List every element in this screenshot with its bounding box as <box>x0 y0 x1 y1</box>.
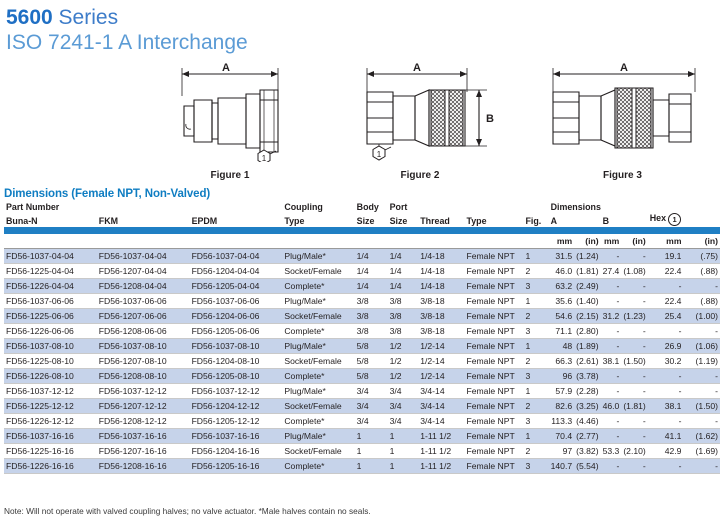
cell-hex-mm: - <box>648 384 684 399</box>
cell-dim-b-in: - <box>621 294 647 309</box>
unit-a-mm: mm <box>549 234 575 249</box>
cell-body-size: 1/4 <box>355 279 388 294</box>
cell-port-size: 1/2 <box>388 354 419 369</box>
cell-dim-b-mm: - <box>601 429 622 444</box>
cell-coupling-type: Socket/Female <box>282 444 354 459</box>
cell-thread: 3/4-14 <box>418 414 464 429</box>
cell-fkm-part: FD56-1037-04-04 <box>97 249 190 264</box>
cell-port-size: 3/4 <box>388 399 419 414</box>
cell-dim-a-mm: 35.6 <box>549 294 575 309</box>
cell-figure-ref: 1 <box>523 384 548 399</box>
figures-row: 1 A Figure 1 <box>0 62 720 182</box>
table-row: FD56-1226-06-06FD56-1208-06-06FD56-1205-… <box>4 324 720 339</box>
cell-fkm-part: FD56-1207-12-12 <box>97 399 190 414</box>
cell-buna-n-part: FD56-1225-08-10 <box>4 354 97 369</box>
cell-coupling-type: Complete* <box>282 369 354 384</box>
cell-figure-ref: 3 <box>523 324 548 339</box>
cell-hex-in: - <box>683 279 720 294</box>
cell-dim-b-in: - <box>621 369 647 384</box>
figure-3-dim-a: A <box>620 62 628 74</box>
table-row: FD56-1226-08-10FD56-1208-08-10FD56-1205-… <box>4 369 720 384</box>
cell-coupling-type: Socket/Female <box>282 264 354 279</box>
cell-dim-b-in: - <box>621 429 647 444</box>
cell-seal-type: Female NPT <box>464 279 523 294</box>
cell-thread: 3/8-18 <box>418 324 464 339</box>
unit-b-mm: mm <box>601 234 622 249</box>
cell-epdm-part: FD56-1204-08-10 <box>190 354 283 369</box>
header-port-size: Size <box>388 213 419 227</box>
cell-coupling-type: Plug/Male* <box>282 384 354 399</box>
cell-dim-a-in: (1.81) <box>574 264 600 279</box>
cell-coupling-type: Complete* <box>282 459 354 474</box>
cell-coupling-type: Plug/Male* <box>282 294 354 309</box>
cell-buna-n-part: FD56-1226-12-12 <box>4 414 97 429</box>
cell-coupling-type: Plug/Male* <box>282 339 354 354</box>
cell-port-size: 1 <box>388 459 419 474</box>
cell-dim-b-mm: - <box>601 369 622 384</box>
cell-hex-mm: 22.4 <box>648 264 684 279</box>
cell-dim-a-in: (1.89) <box>574 339 600 354</box>
cell-seal-type: Female NPT <box>464 339 523 354</box>
cell-dim-b-mm: 53.3 <box>601 444 622 459</box>
cell-buna-n-part: FD56-1037-08-10 <box>4 339 97 354</box>
cell-thread: 1/2-14 <box>418 339 464 354</box>
cell-dim-b-in: (2.10) <box>621 444 647 459</box>
unit-spacer-3 <box>190 234 283 249</box>
cell-port-size: 1/4 <box>388 279 419 294</box>
unit-spacer-2 <box>97 234 190 249</box>
cell-hex-mm: 25.4 <box>648 309 684 324</box>
figure-2-dim-a: A <box>413 62 421 74</box>
dimensions-table: Part Number Coupling Body Port Dimension… <box>4 202 720 474</box>
cell-fkm-part: FD56-1037-06-06 <box>97 294 190 309</box>
cell-dim-a-in: (1.40) <box>574 294 600 309</box>
cell-thread: 1/4-18 <box>418 279 464 294</box>
cell-hex-in: (.75) <box>683 249 720 264</box>
cell-epdm-part: FD56-1037-08-10 <box>190 339 283 354</box>
figure-1-drawing: 1 A <box>160 62 300 162</box>
cell-dim-a-mm: 140.7 <box>549 459 575 474</box>
cell-dim-a-mm: 46.0 <box>549 264 575 279</box>
cell-port-size: 1/2 <box>388 369 419 384</box>
cell-dim-b-mm: - <box>601 279 622 294</box>
cell-thread: 1-11 1/2 <box>418 444 464 459</box>
header-buna: Buna-N <box>4 213 97 227</box>
cell-thread: 1-11 1/2 <box>418 459 464 474</box>
cell-hex-in: (1.06) <box>683 339 720 354</box>
header-dim-hex: Hex1 <box>648 213 720 227</box>
cell-hex-in: (1.69) <box>683 444 720 459</box>
cell-dim-a-in: (4.46) <box>574 414 600 429</box>
cell-body-size: 3/4 <box>355 399 388 414</box>
cell-dim-b-mm: 46.0 <box>601 399 622 414</box>
cell-hex-mm: - <box>648 414 684 429</box>
cell-body-size: 3/4 <box>355 384 388 399</box>
figure-1-dim-a: A <box>222 62 230 74</box>
cell-figure-ref: 3 <box>523 414 548 429</box>
series-word: Series <box>53 6 118 29</box>
header-epdm: EPDM <box>190 213 283 227</box>
cell-buna-n-part: FD56-1226-04-04 <box>4 279 97 294</box>
figure-1-caption: Figure 1 <box>160 170 300 181</box>
header-spacer-fig <box>523 202 548 213</box>
cell-dim-a-in: (2.49) <box>574 279 600 294</box>
header-port: Port <box>388 202 419 213</box>
header-spacer-hex2 <box>683 202 720 213</box>
unit-hex-mm: mm <box>648 234 684 249</box>
header-body-size: Size <box>355 213 388 227</box>
cell-dim-a-in: (5.54) <box>574 459 600 474</box>
header-spacer-type <box>464 202 523 213</box>
cell-dim-b-mm: - <box>601 414 622 429</box>
cell-coupling-type: Complete* <box>282 324 354 339</box>
cell-hex-in: - <box>683 369 720 384</box>
header-rule <box>4 227 720 234</box>
cell-dim-a-mm: 71.1 <box>549 324 575 339</box>
callout-hex-1: 1 <box>373 146 391 160</box>
cell-coupling-type: Socket/Female <box>282 399 354 414</box>
header-thread: Thread <box>418 213 464 227</box>
cell-dim-a-in: (2.15) <box>574 309 600 324</box>
cell-seal-type: Female NPT <box>464 414 523 429</box>
unit-spacer-5 <box>355 234 388 249</box>
header-dim-a: A <box>549 213 601 227</box>
unit-spacer-7 <box>418 234 464 249</box>
header-coupling: Coupling <box>282 202 354 213</box>
cell-dim-a-in: (3.78) <box>574 369 600 384</box>
cell-seal-type: Female NPT <box>464 294 523 309</box>
cell-dim-a-mm: 113.3 <box>549 414 575 429</box>
table-row: FD56-1226-04-04FD56-1208-04-04FD56-1205-… <box>4 279 720 294</box>
unit-spacer-4 <box>282 234 354 249</box>
header-dimensions: Dimensions <box>549 202 648 213</box>
cell-figure-ref: 2 <box>523 399 548 414</box>
cell-hex-in: - <box>683 414 720 429</box>
cell-port-size: 1/4 <box>388 264 419 279</box>
figure-1: 1 A Figure 1 <box>160 62 300 181</box>
figure-3-drawing: A <box>535 62 710 162</box>
cell-seal-type: Female NPT <box>464 309 523 324</box>
cell-body-size: 5/8 <box>355 339 388 354</box>
cell-dim-b-mm: - <box>601 249 622 264</box>
cell-figure-ref: 3 <box>523 279 548 294</box>
cell-figure-ref: 1 <box>523 294 548 309</box>
table-row: FD56-1225-04-04FD56-1207-04-04FD56-1204-… <box>4 264 720 279</box>
cell-epdm-part: FD56-1205-12-12 <box>190 414 283 429</box>
cell-seal-type: Female NPT <box>464 444 523 459</box>
cell-dim-a-in: (2.80) <box>574 324 600 339</box>
cell-dim-b-in: - <box>621 324 647 339</box>
cell-dim-b-in: - <box>621 414 647 429</box>
cell-buna-n-part: FD56-1037-04-04 <box>4 249 97 264</box>
footnote-marker-1: 1 <box>668 213 681 226</box>
cell-port-size: 1 <box>388 444 419 459</box>
cell-figure-ref: 3 <box>523 459 548 474</box>
cell-body-size: 5/8 <box>355 369 388 384</box>
cell-dim-b-mm: - <box>601 459 622 474</box>
cell-coupling-type: Plug/Male* <box>282 249 354 264</box>
cell-dim-b-in: - <box>621 249 647 264</box>
header-body: Body <box>355 202 388 213</box>
cell-seal-type: Female NPT <box>464 399 523 414</box>
cell-buna-n-part: FD56-1225-06-06 <box>4 309 97 324</box>
table-row: FD56-1037-12-12FD56-1037-12-12FD56-1037-… <box>4 384 720 399</box>
page-subtitle: ISO 7241-1 A Interchange <box>6 30 720 56</box>
page-title-block: 5600 Series ISO 7241-1 A Interchange <box>0 0 720 56</box>
cell-fkm-part: FD56-1207-08-10 <box>97 354 190 369</box>
table-row: FD56-1037-06-06FD56-1037-06-06FD56-1037-… <box>4 294 720 309</box>
cell-epdm-part: FD56-1037-12-12 <box>190 384 283 399</box>
cell-port-size: 3/4 <box>388 384 419 399</box>
cell-buna-n-part: FD56-1226-08-10 <box>4 369 97 384</box>
cell-thread: 1/2-14 <box>418 369 464 384</box>
cell-epdm-part: FD56-1204-06-06 <box>190 309 283 324</box>
cell-dim-a-mm: 63.2 <box>549 279 575 294</box>
series-number: 5600 <box>6 6 53 29</box>
cell-dim-a-in: (2.61) <box>574 354 600 369</box>
cell-thread: 1/4-18 <box>418 249 464 264</box>
cell-figure-ref: 2 <box>523 354 548 369</box>
cell-hex-mm: 22.4 <box>648 294 684 309</box>
cell-buna-n-part: FD56-1225-12-12 <box>4 399 97 414</box>
cell-seal-type: Female NPT <box>464 369 523 384</box>
cell-figure-ref: 2 <box>523 309 548 324</box>
cell-epdm-part: FD56-1205-04-04 <box>190 279 283 294</box>
cell-hex-in: (.88) <box>683 264 720 279</box>
cell-epdm-part: FD56-1205-06-06 <box>190 324 283 339</box>
cell-dim-b-in: - <box>621 459 647 474</box>
cell-port-size: 3/8 <box>388 324 419 339</box>
cell-hex-in: - <box>683 384 720 399</box>
cell-epdm-part: FD56-1204-04-04 <box>190 264 283 279</box>
cell-dim-a-in: (3.25) <box>574 399 600 414</box>
header-fig: Fig. <box>523 213 548 227</box>
figure-3: A Figure 3 <box>535 62 710 181</box>
cell-seal-type: Female NPT <box>464 459 523 474</box>
cell-thread: 3/4-14 <box>418 384 464 399</box>
cell-dim-b-in: - <box>621 384 647 399</box>
cell-body-size: 5/8 <box>355 354 388 369</box>
cell-body-size: 1 <box>355 429 388 444</box>
cell-port-size: 1 <box>388 429 419 444</box>
cell-epdm-part: FD56-1205-16-16 <box>190 459 283 474</box>
cell-port-size: 3/4 <box>388 414 419 429</box>
cell-fkm-part: FD56-1208-12-12 <box>97 414 190 429</box>
cell-hex-mm: 19.1 <box>648 249 684 264</box>
table-row: FD56-1225-06-06FD56-1207-06-06FD56-1204-… <box>4 309 720 324</box>
cell-figure-ref: 2 <box>523 444 548 459</box>
unit-b-in: (in) <box>621 234 647 249</box>
cell-hex-mm: 38.1 <box>648 399 684 414</box>
cell-dim-b-mm: 31.2 <box>601 309 622 324</box>
cell-port-size: 3/8 <box>388 309 419 324</box>
cell-hex-in: - <box>683 459 720 474</box>
unit-a-in: (in) <box>574 234 600 249</box>
cell-epdm-part: FD56-1204-12-12 <box>190 399 283 414</box>
cell-body-size: 3/8 <box>355 294 388 309</box>
cell-hex-in: (1.50) <box>683 399 720 414</box>
table-row: FD56-1225-12-12FD56-1207-12-12FD56-1204-… <box>4 399 720 414</box>
header-part-number: Part Number <box>4 202 97 213</box>
cell-fkm-part: FD56-1207-04-04 <box>97 264 190 279</box>
cell-dim-a-mm: 31.5 <box>549 249 575 264</box>
cell-dim-a-mm: 70.4 <box>549 429 575 444</box>
cell-dim-a-in: (1.24) <box>574 249 600 264</box>
cell-fkm-part: FD56-1207-16-16 <box>97 444 190 459</box>
cell-hex-mm: - <box>648 369 684 384</box>
cell-hex-mm: 42.9 <box>648 444 684 459</box>
cell-dim-a-in: (3.82) <box>574 444 600 459</box>
cell-epdm-part: FD56-1037-04-04 <box>190 249 283 264</box>
cell-hex-in: (1.00) <box>683 309 720 324</box>
cell-hex-in: (.88) <box>683 294 720 309</box>
table-row: FD56-1037-16-16FD56-1037-16-16FD56-1037-… <box>4 429 720 444</box>
cell-coupling-type: Complete* <box>282 414 354 429</box>
cell-body-size: 3/8 <box>355 324 388 339</box>
table-row: FD56-1226-16-16FD56-1208-16-16FD56-1205-… <box>4 459 720 474</box>
cell-dim-a-mm: 66.3 <box>549 354 575 369</box>
cell-body-size: 3/8 <box>355 309 388 324</box>
figure-2-drawing: 1 A B <box>345 62 495 162</box>
cell-dim-b-in: (1.23) <box>621 309 647 324</box>
cell-body-size: 1/4 <box>355 249 388 264</box>
cell-dim-a-mm: 96 <box>549 369 575 384</box>
cell-epdm-part: FD56-1205-08-10 <box>190 369 283 384</box>
cell-fkm-part: FD56-1208-04-04 <box>97 279 190 294</box>
cell-hex-mm: - <box>648 324 684 339</box>
table-group-header-row: Part Number Coupling Body Port Dimension… <box>4 202 720 213</box>
header-hex-label: Hex <box>650 213 666 223</box>
cell-fkm-part: FD56-1208-16-16 <box>97 459 190 474</box>
cell-thread: 3/8-18 <box>418 294 464 309</box>
cell-dim-b-in: (1.50) <box>621 354 647 369</box>
cell-seal-type: Female NPT <box>464 384 523 399</box>
cell-buna-n-part: FD56-1226-16-16 <box>4 459 97 474</box>
cell-epdm-part: FD56-1037-06-06 <box>190 294 283 309</box>
cell-epdm-part: FD56-1204-16-16 <box>190 444 283 459</box>
cell-buna-n-part: FD56-1226-06-06 <box>4 324 97 339</box>
cell-coupling-type: Socket/Female <box>282 354 354 369</box>
cell-fkm-part: FD56-1037-08-10 <box>97 339 190 354</box>
cell-figure-ref: 3 <box>523 369 548 384</box>
table-row: FD56-1037-04-04FD56-1037-04-04FD56-1037-… <box>4 249 720 264</box>
page-title-line1: 5600 Series <box>6 6 720 30</box>
header-spacer-hex1 <box>648 202 684 213</box>
cell-figure-ref: 1 <box>523 339 548 354</box>
table-row: FD56-1225-16-16FD56-1207-16-16FD56-1204-… <box>4 444 720 459</box>
cell-dim-b-in: - <box>621 279 647 294</box>
cell-dim-b-in: - <box>621 339 647 354</box>
header-fkm: FKM <box>97 213 190 227</box>
cell-coupling-type: Socket/Female <box>282 309 354 324</box>
unit-spacer-1 <box>4 234 97 249</box>
cell-dim-b-mm: - <box>601 384 622 399</box>
cell-port-size: 1/4 <box>388 249 419 264</box>
cell-dim-b-mm: - <box>601 339 622 354</box>
cell-buna-n-part: FD56-1225-16-16 <box>4 444 97 459</box>
cell-figure-ref: 1 <box>523 429 548 444</box>
cell-buna-n-part: FD56-1037-12-12 <box>4 384 97 399</box>
cell-hex-in: - <box>683 324 720 339</box>
cell-figure-ref: 1 <box>523 249 548 264</box>
section-heading: Dimensions (Female NPT, Non-Valved) <box>4 188 720 200</box>
svg-text:1: 1 <box>262 154 267 162</box>
cell-dim-b-mm: - <box>601 324 622 339</box>
figure-2: 1 A B Figure 2 <box>345 62 495 181</box>
svg-text:1: 1 <box>377 150 382 159</box>
cell-dim-a-mm: 48 <box>549 339 575 354</box>
cell-thread: 1-11 1/2 <box>418 429 464 444</box>
table-footnote: Note: Will not operate with valved coupl… <box>4 506 371 516</box>
unit-spacer-6 <box>388 234 419 249</box>
header-spacer-epdm <box>190 202 283 213</box>
cell-dim-a-mm: 82.6 <box>549 399 575 414</box>
cell-fkm-part: FD56-1037-12-12 <box>97 384 190 399</box>
cell-coupling-type: Plug/Male* <box>282 429 354 444</box>
cell-port-size: 1/2 <box>388 339 419 354</box>
cell-hex-mm: 26.9 <box>648 339 684 354</box>
cell-buna-n-part: FD56-1037-06-06 <box>4 294 97 309</box>
cell-buna-n-part: FD56-1225-04-04 <box>4 264 97 279</box>
cell-hex-mm: 30.2 <box>648 354 684 369</box>
header-seal-type: Type <box>464 213 523 227</box>
header-spacer-thread <box>418 202 464 213</box>
figure-3-caption: Figure 3 <box>535 170 710 181</box>
cell-seal-type: Female NPT <box>464 354 523 369</box>
cell-fkm-part: FD56-1208-06-06 <box>97 324 190 339</box>
header-spacer-fkm <box>97 202 190 213</box>
table-row: FD56-1037-08-10FD56-1037-08-10FD56-1037-… <box>4 339 720 354</box>
cell-hex-mm: - <box>648 459 684 474</box>
unit-spacer-9 <box>523 234 548 249</box>
cell-dim-b-in: (1.08) <box>621 264 647 279</box>
cell-coupling-type: Complete* <box>282 279 354 294</box>
cell-dim-b-mm: 27.4 <box>601 264 622 279</box>
cell-hex-mm: - <box>648 279 684 294</box>
cell-body-size: 3/4 <box>355 414 388 429</box>
unit-spacer-8 <box>464 234 523 249</box>
cell-body-size: 1 <box>355 459 388 474</box>
cell-thread: 3/4-14 <box>418 399 464 414</box>
cell-hex-in: (1.62) <box>683 429 720 444</box>
cell-figure-ref: 2 <box>523 264 548 279</box>
table-header-row: Buna-N FKM EPDM Type Size Size Thread Ty… <box>4 213 720 227</box>
cell-thread: 1/2-14 <box>418 354 464 369</box>
cell-fkm-part: FD56-1037-16-16 <box>97 429 190 444</box>
table-row: FD56-1225-08-10FD56-1207-08-10FD56-1204-… <box>4 354 720 369</box>
cell-seal-type: Female NPT <box>464 249 523 264</box>
cell-dim-b-mm: 38.1 <box>601 354 622 369</box>
header-coupling-type: Type <box>282 213 354 227</box>
cell-dim-a-mm: 54.6 <box>549 309 575 324</box>
cell-hex-mm: 41.1 <box>648 429 684 444</box>
table-body: FD56-1037-04-04FD56-1037-04-04FD56-1037-… <box>4 249 720 474</box>
cell-dim-a-mm: 97 <box>549 444 575 459</box>
cell-dim-a-mm: 57.9 <box>549 384 575 399</box>
cell-seal-type: Female NPT <box>464 324 523 339</box>
cell-body-size: 1 <box>355 444 388 459</box>
cell-seal-type: Female NPT <box>464 429 523 444</box>
header-dim-b: B <box>601 213 648 227</box>
cell-epdm-part: FD56-1037-16-16 <box>190 429 283 444</box>
cell-thread: 3/8-18 <box>418 309 464 324</box>
table-units-row: mm (in) mm (in) mm (in) <box>4 234 720 249</box>
cell-dim-a-in: (2.77) <box>574 429 600 444</box>
table-row: FD56-1226-12-12FD56-1208-12-12FD56-1205-… <box>4 414 720 429</box>
cell-dim-b-in: (1.81) <box>621 399 647 414</box>
cell-dim-b-mm: - <box>601 294 622 309</box>
unit-hex-in: (in) <box>683 234 720 249</box>
